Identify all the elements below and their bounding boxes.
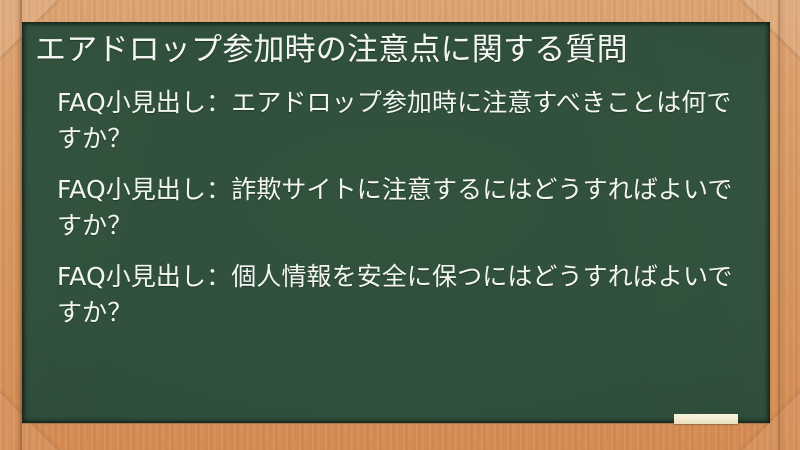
page-title: エアドロップ参加時の注意点に関する質問 xyxy=(35,30,752,71)
chalkboard-surface: エアドロップ参加時の注意点に関する質問 FAQ小見出し：エアドロップ参加時に注意… xyxy=(22,22,770,423)
chalkboard-content: エアドロップ参加時の注意点に関する質問 FAQ小見出し：エアドロップ参加時に注意… xyxy=(22,22,770,331)
frame-inner-shadow-right xyxy=(778,0,783,450)
list-item: FAQ小見出し：個人情報を安全に保つにはどうすればよいですか？ xyxy=(57,259,742,331)
chalk-stick-icon xyxy=(674,414,738,424)
chalkboard-frame: エアドロップ参加時の注意点に関する質問 FAQ小見出し：エアドロップ参加時に注意… xyxy=(0,0,800,450)
chalk-ledge xyxy=(22,423,770,425)
faq-list: FAQ小見出し：エアドロップ参加時に注意すべきことは何ですか？ FAQ小見出し：… xyxy=(35,85,752,331)
list-item: FAQ小見出し：エアドロップ参加時に注意すべきことは何ですか？ xyxy=(57,85,742,157)
list-item: FAQ小見出し：詐欺サイトに注意するにはどうすればよいですか？ xyxy=(57,172,742,244)
